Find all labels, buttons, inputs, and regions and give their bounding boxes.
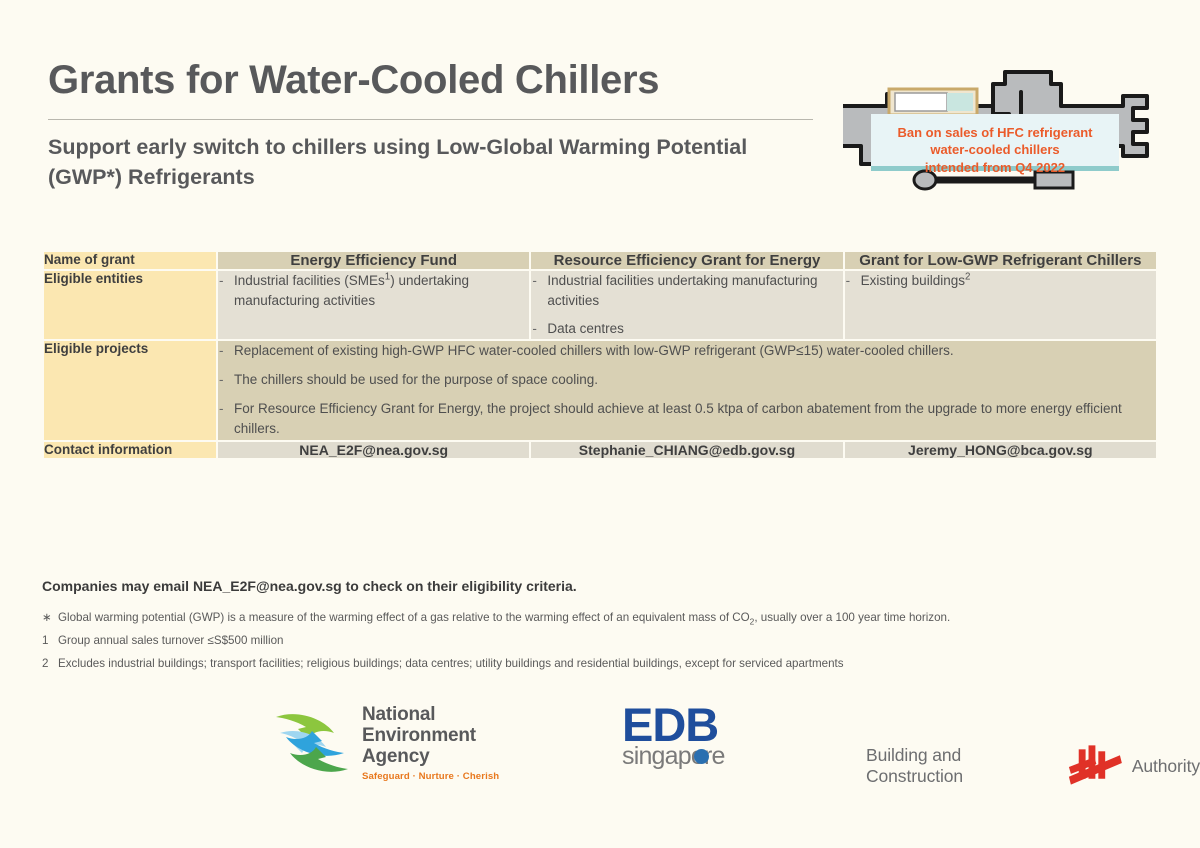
footnote-marker-2: 2 xyxy=(42,657,58,671)
page-subtitle: Support early switch to chillers using L… xyxy=(48,132,818,193)
list-item: Industrial facilities (SMEs1) undertakin… xyxy=(218,271,529,310)
grants-table: Name of grant Energy Efficiency Fund Res… xyxy=(42,250,1158,460)
row-label-name-of-grant: Name of grant xyxy=(44,252,216,269)
row-label-eligible-entities: Eligible entities xyxy=(44,271,216,339)
list-item: Replacement of existing high-GWP HFC wat… xyxy=(218,341,1156,361)
edb-subwordmark-wrap: singapore xyxy=(622,744,725,769)
edb-wordmark: EDB xyxy=(622,703,725,746)
nea-wordmark: National Environment Agency Safeguard · … xyxy=(362,704,499,783)
contact-email-2[interactable]: Jeremy_HONG@bca.gov.sg xyxy=(845,442,1156,458)
footnote-marker-1: 1 xyxy=(42,634,58,648)
nea-line-3: Agency xyxy=(362,746,499,767)
nea-line-1: National xyxy=(362,704,499,725)
footnote-0: ∗ Global warming potential (GWP) is a me… xyxy=(42,611,1152,625)
footnotes-block: ∗ Global warming potential (GWP) is a me… xyxy=(42,611,1152,680)
row-label-eligible-projects: Eligible projects xyxy=(44,341,216,440)
grant-name-0: Energy Efficiency Fund xyxy=(218,252,529,269)
list-item: The chillers should be used for the purp… xyxy=(218,370,1156,390)
eligible-projects-cell: Replacement of existing high-GWP HFC wat… xyxy=(218,341,1156,440)
nea-tagline: Safeguard · Nurture · Cherish xyxy=(362,771,499,782)
logo-building-construction-authority: Building and Construction Authority xyxy=(866,743,1200,789)
water-cooled-chiller-icon xyxy=(843,44,1163,224)
page-title: Grants for Water-Cooled Chillers xyxy=(48,58,838,103)
bca-left-text: Building and Construction xyxy=(866,745,1059,787)
table-row-contact-information: Contact information NEA_E2F@nea.gov.sg S… xyxy=(44,442,1156,458)
table-row-eligible-projects: Eligible projects Replacement of existin… xyxy=(44,341,1156,440)
eligible-entities-cell-1: Industrial facilities undertaking manufa… xyxy=(531,271,842,339)
footnote-1: 1 Group annual sales turnover ≤S$500 mil… xyxy=(42,634,1152,648)
contact-email-0[interactable]: NEA_E2F@nea.gov.sg xyxy=(218,442,529,458)
grant-name-2: Grant for Low-GWP Refrigerant Chillers xyxy=(845,252,1156,269)
eligible-entities-cell-2: Existing buildings2 xyxy=(845,271,1156,339)
entities-list-1: Industrial facilities undertaking manufa… xyxy=(531,271,842,339)
row-label-contact-information: Contact information xyxy=(44,442,216,458)
entities-list-2: Existing buildings2 xyxy=(845,271,1156,291)
nea-swoosh-icon xyxy=(272,703,352,783)
list-item: Data centres xyxy=(531,319,842,339)
logo-strip: National Environment Agency Safeguard · … xyxy=(0,695,1200,805)
grant-name-1: Resource Efficiency Grant for Energy xyxy=(531,252,842,269)
footnote-2: 2 Excludes industrial buildings; transpo… xyxy=(42,657,1152,671)
eligible-projects-list: Replacement of existing high-GWP HFC wat… xyxy=(218,341,1156,440)
footnote-text-2: Excludes industrial buildings; transport… xyxy=(58,657,844,671)
nea-line-2: Environment xyxy=(362,725,499,746)
footnote-text-0: Global warming potential (GWP) is a meas… xyxy=(58,611,950,625)
footnote-text-1: Group annual sales turnover ≤S$500 milli… xyxy=(58,634,283,648)
page-header: Grants for Water-Cooled Chillers Support… xyxy=(48,58,838,193)
eligible-entities-cell-0: Industrial facilities (SMEs1) undertakin… xyxy=(218,271,529,339)
bca-mark-icon xyxy=(1065,743,1126,789)
table-row-name-of-grant: Name of grant Energy Efficiency Fund Res… xyxy=(44,252,1156,269)
footnote-marker-0: ∗ xyxy=(42,611,58,625)
entities-list-0: Industrial facilities (SMEs1) undertakin… xyxy=(218,271,529,310)
eligibility-note: Companies may email NEA_E2F@nea.gov.sg t… xyxy=(42,578,577,594)
edb-subwordmark: singapore xyxy=(622,742,725,770)
bca-right-text: Authority xyxy=(1132,756,1200,777)
list-item: For Resource Efficiency Grant for Energy… xyxy=(218,399,1156,440)
list-item: Industrial facilities undertaking manufa… xyxy=(531,271,842,310)
list-item: Existing buildings2 xyxy=(845,271,1156,291)
contact-email-1[interactable]: Stephanie_CHIANG@edb.gov.sg xyxy=(531,442,842,458)
table-row-eligible-entities: Eligible entities Industrial facilities … xyxy=(44,271,1156,339)
chiller-illustration: Ban on sales of HFC refrigerant water-co… xyxy=(843,44,1163,224)
title-divider xyxy=(48,119,813,120)
logo-national-environment-agency: National Environment Agency Safeguard · … xyxy=(272,703,499,783)
logo-edb-singapore: EDB singapore xyxy=(622,703,725,769)
